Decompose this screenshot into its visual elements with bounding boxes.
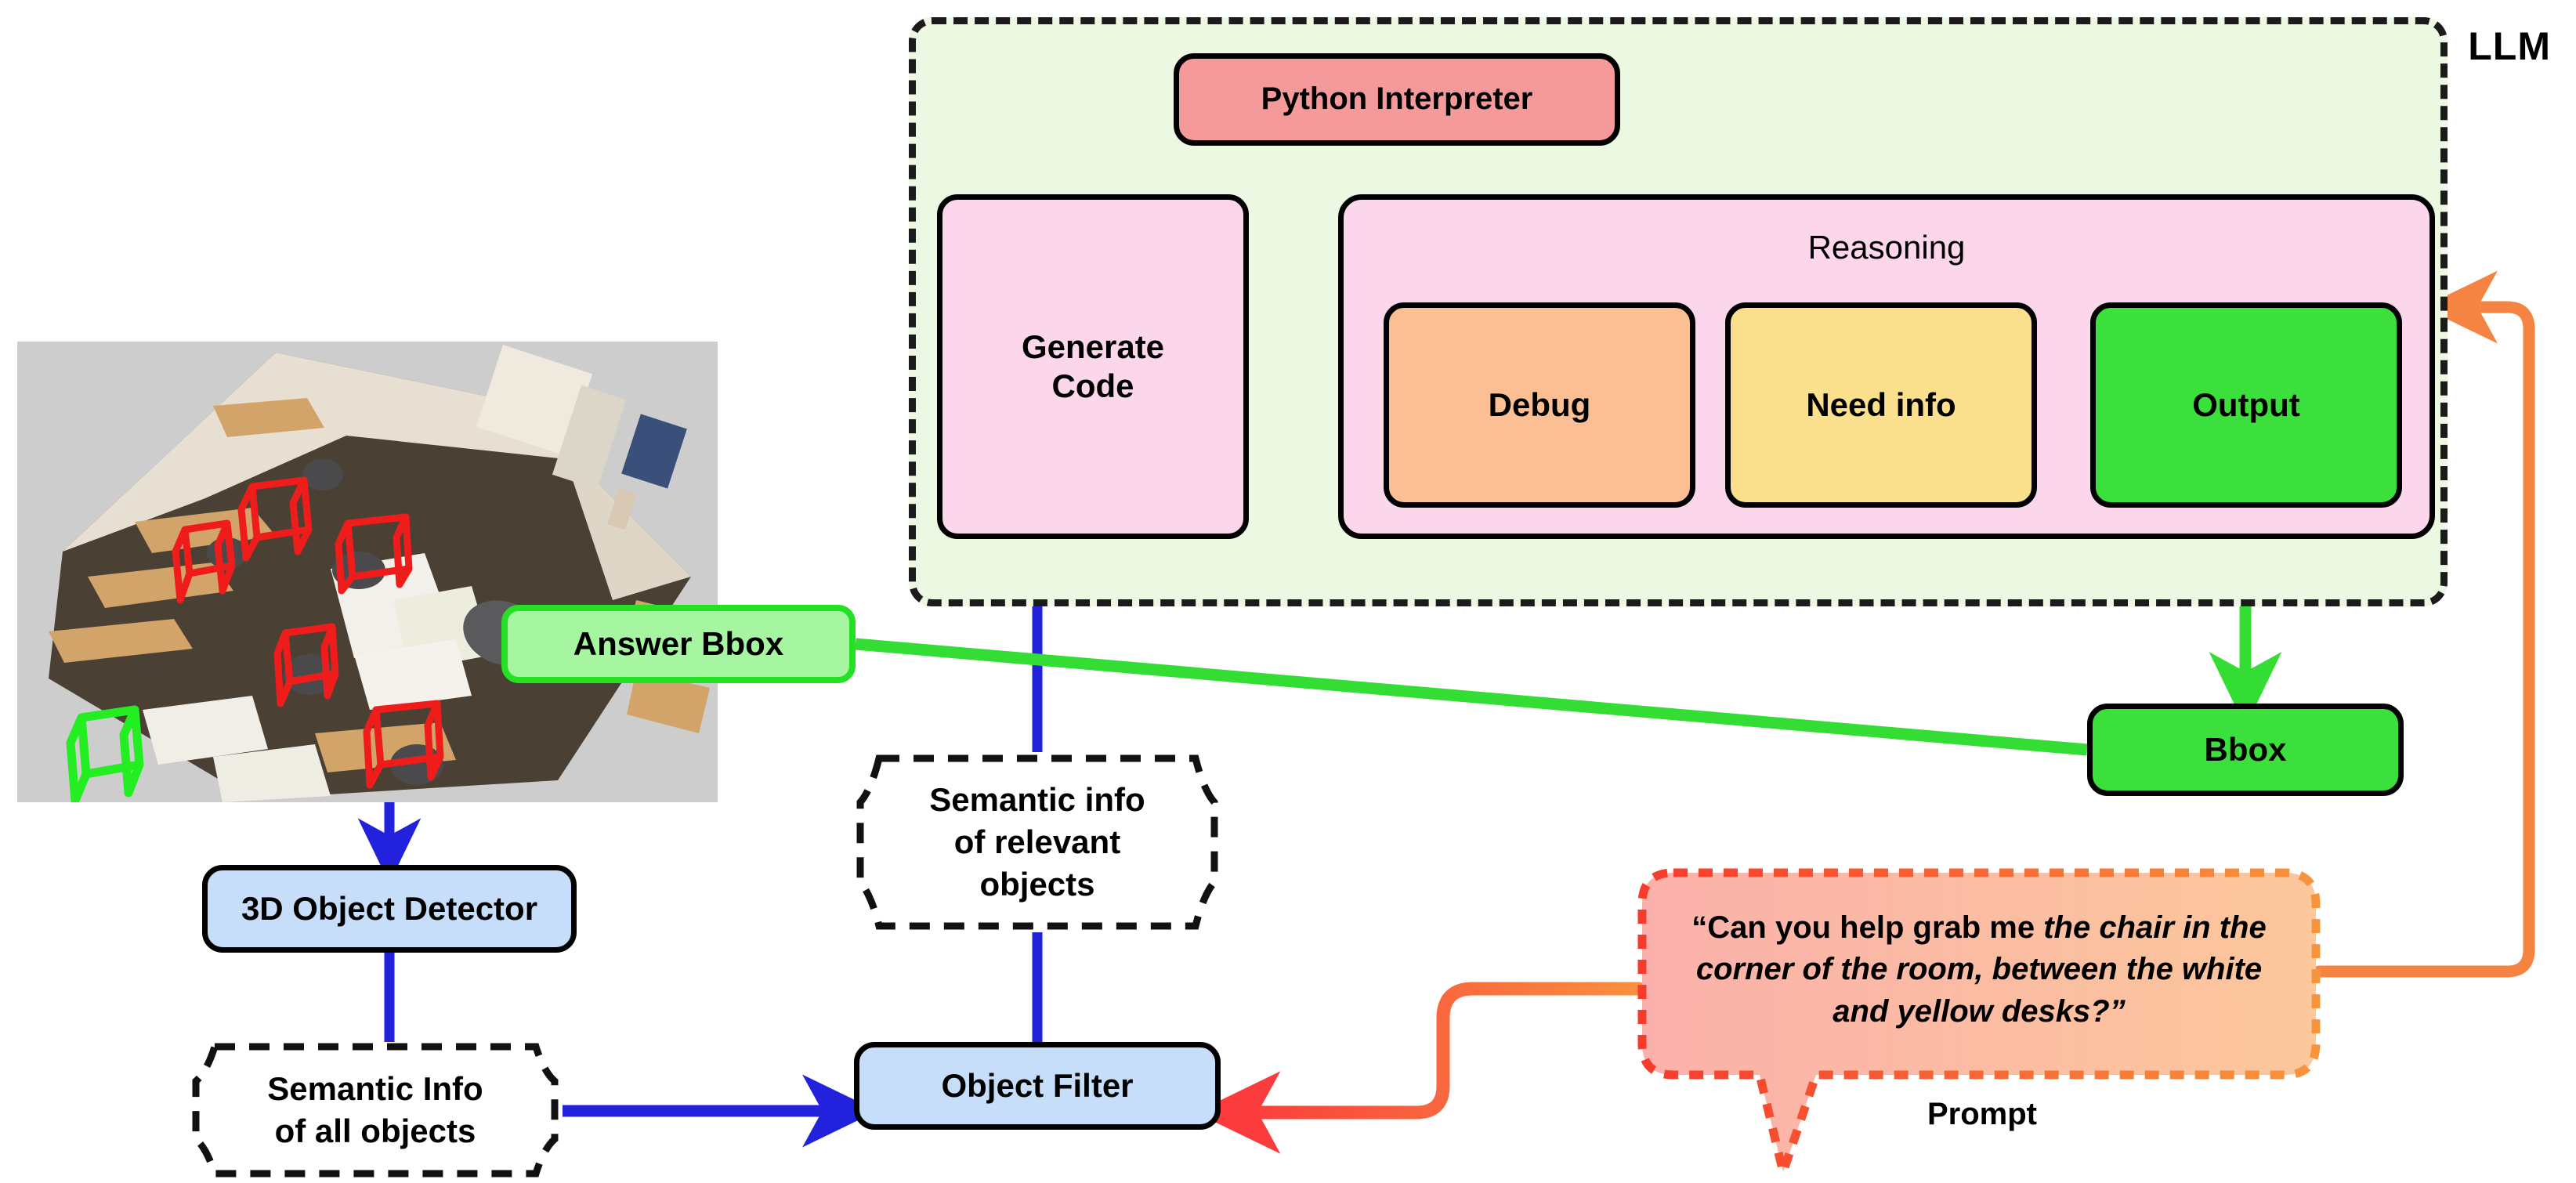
llm-label: LLM	[2468, 24, 2551, 69]
point-cloud-scene-image	[17, 342, 718, 802]
scene-svg	[17, 342, 718, 802]
answer-bbox-label[interactable]: Answer Bbox	[501, 605, 856, 683]
python-interpreter-node[interactable]: Python Interpreter	[1174, 53, 1620, 146]
prompt-caption: Prompt	[1810, 1097, 2155, 1132]
output-node[interactable]: Output	[2090, 302, 2402, 508]
debug-node[interactable]: Debug	[1384, 302, 1695, 508]
wire-bbox-to-answerbbox	[856, 644, 2087, 750]
prompt-quote-opening: “Can you help grab me	[1691, 910, 2043, 945]
bbox-node[interactable]: Bbox	[2087, 704, 2404, 796]
generate-code-node[interactable]: Generate Code	[937, 194, 1249, 539]
semantic-info-relevant-objects: Semantic info of relevant objects	[852, 752, 1222, 932]
object-filter-node[interactable]: Object Filter	[854, 1042, 1221, 1130]
semantic-all-label: Semantic Info of all objects	[225, 1068, 525, 1152]
prompt-speech-bubble: “Can you help grab me the chair in the c…	[1639, 871, 2319, 1069]
semantic-info-all-objects: Semantic Info of all objects	[188, 1040, 563, 1180]
semantic-relevant-label: Semantic info of relevant objects	[887, 779, 1187, 905]
wire-prompt-to-objectfilter	[1238, 989, 1639, 1112]
diagram-canvas: LLM Python Interpreter Generate Code Rea…	[0, 0, 2576, 1180]
need-info-node[interactable]: Need info	[1725, 302, 2037, 508]
3d-object-detector-node[interactable]: 3D Object Detector	[202, 865, 577, 953]
prompt-text: “Can you help grab me the chair in the c…	[1639, 871, 2319, 1069]
reasoning-title: Reasoning	[1344, 228, 2429, 267]
